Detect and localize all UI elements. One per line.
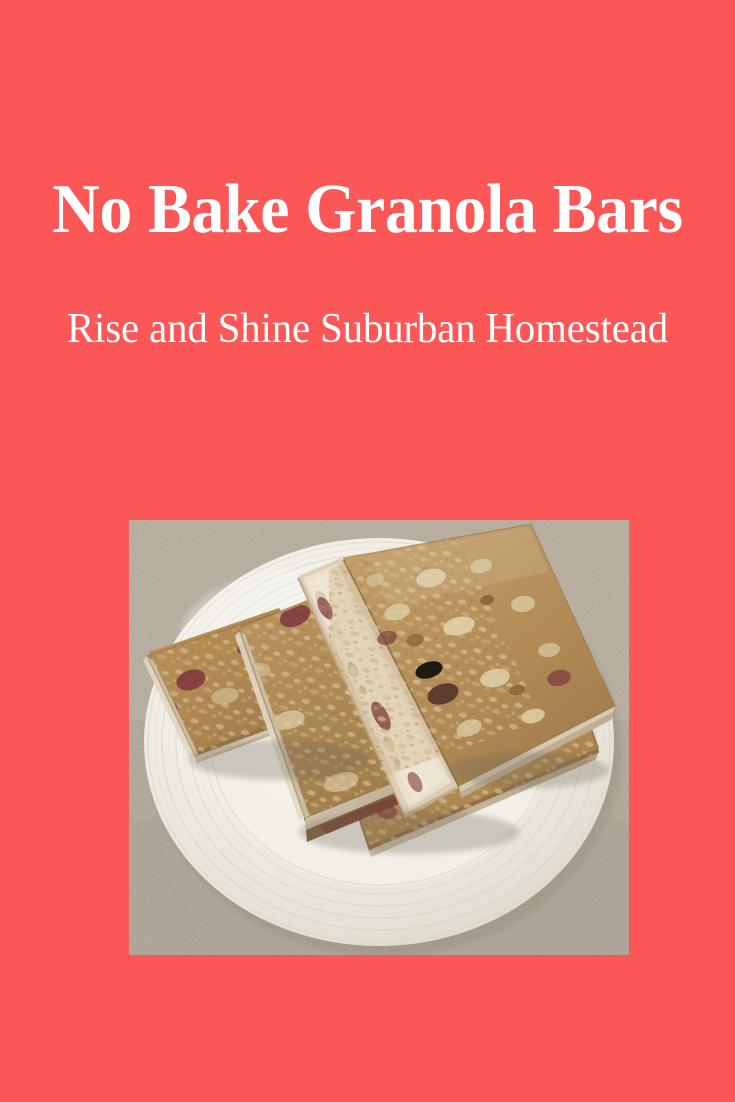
title-block: No Bake Granola Bars [0,174,735,246]
granola-bars-photo [129,520,629,955]
page-title: No Bake Granola Bars [22,174,713,246]
pinterest-pin-canvas: No Bake Granola Bars Rise and Shine Subu… [0,0,735,1102]
granola-bars-illustration [129,520,629,955]
subtitle-block: Rise and Shine Suburban Homestead [0,305,735,353]
page-subtitle: Rise and Shine Suburban Homestead [11,305,724,353]
